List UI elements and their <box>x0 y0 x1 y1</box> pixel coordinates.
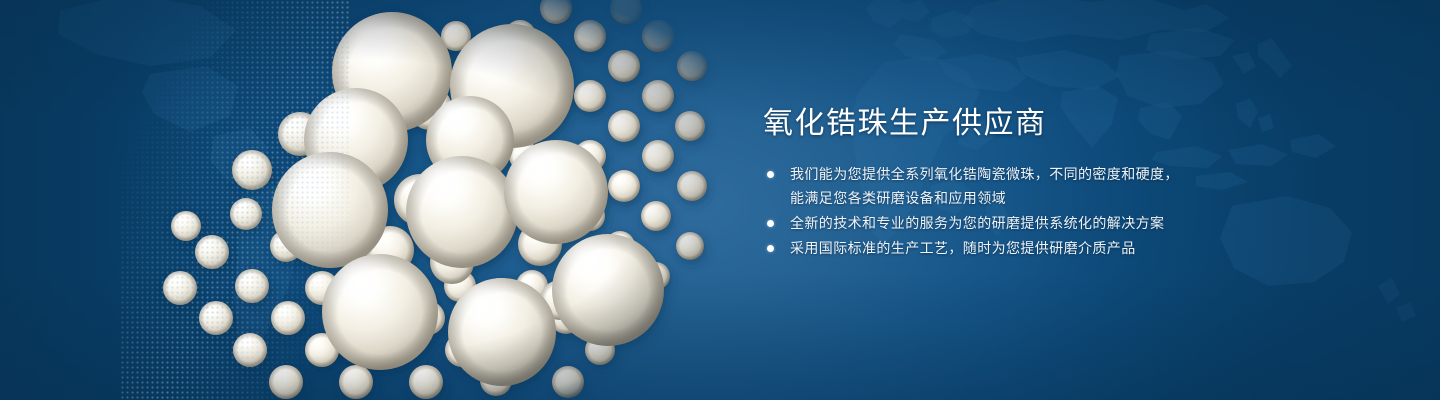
bullet-dot-icon <box>767 171 774 178</box>
bullet-dot-icon <box>767 220 774 227</box>
page-title: 氧化锆珠生产供应商 <box>763 104 1233 144</box>
promo-banner: 氧化锆珠生产供应商 我们能为您提供全系列氧化锆陶瓷微珠，不同的密度和硬度， 能满… <box>0 0 1440 400</box>
bullet-dot-icon <box>767 245 774 252</box>
list-item: 采用国际标准的生产工艺，随时为您提供研磨介质产品 <box>763 236 1233 260</box>
banner-copy: 氧化锆珠生产供应商 我们能为您提供全系列氧化锆陶瓷微珠，不同的密度和硬度， 能满… <box>763 104 1233 261</box>
list-item-line-2: 能满足您各类研磨设备和应用领域 <box>790 186 1233 210</box>
list-item: 全新的技术和专业的服务为您的研磨提供系统化的解决方案 <box>763 211 1233 235</box>
list-item-text: 采用国际标准的生产工艺，随时为您提供研磨介质产品 <box>790 236 1233 260</box>
feature-list: 我们能为您提供全系列氧化锆陶瓷微珠，不同的密度和硬度， 能满足您各类研磨设备和应… <box>763 162 1233 260</box>
list-item-line-1: 全新的技术和专业的服务为您的研磨提供系统化的解决方案 <box>790 215 1164 231</box>
list-item-text: 我们能为您提供全系列氧化锆陶瓷微珠，不同的密度和硬度， 能满足您各类研磨设备和应… <box>790 162 1233 210</box>
list-item: 我们能为您提供全系列氧化锆陶瓷微珠，不同的密度和硬度， 能满足您各类研磨设备和应… <box>763 162 1233 210</box>
list-item-line-1: 我们能为您提供全系列氧化锆陶瓷微珠，不同的密度和硬度， <box>790 166 1179 182</box>
zirconia-beads-photo <box>0 0 760 400</box>
list-item-line-1: 采用国际标准的生产工艺，随时为您提供研磨介质产品 <box>790 240 1136 256</box>
list-item-text: 全新的技术和专业的服务为您的研磨提供系统化的解决方案 <box>790 211 1233 235</box>
